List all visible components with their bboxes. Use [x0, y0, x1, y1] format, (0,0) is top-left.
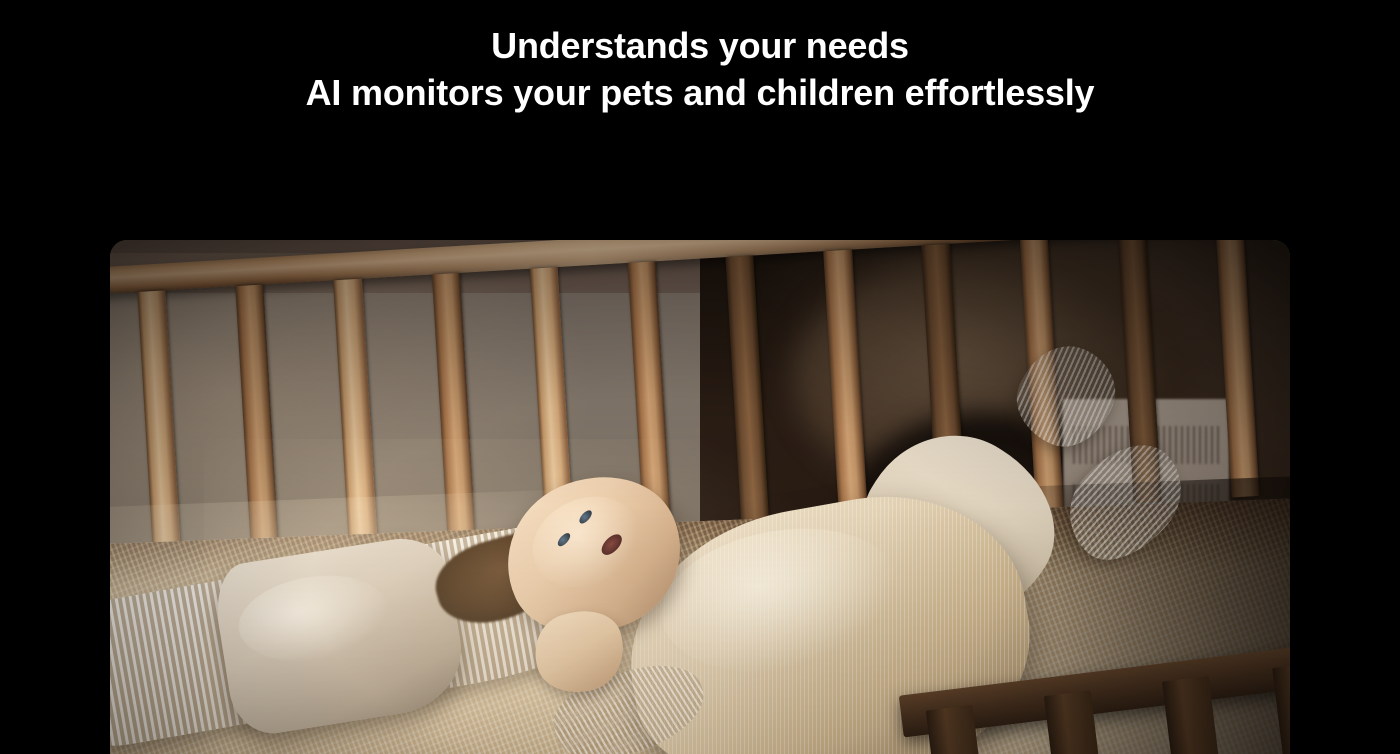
headline-block: Understands your needs AI monitors your … [0, 22, 1400, 116]
nursery-crib-photo [110, 240, 1290, 754]
headline-line-1: Understands your needs [40, 22, 1360, 69]
warm-color-grade [110, 240, 1290, 754]
headline-line-2: AI monitors your pets and children effor… [40, 69, 1360, 116]
feature-media-card [110, 240, 1290, 754]
promo-section: Understands your needs AI monitors your … [0, 0, 1400, 754]
